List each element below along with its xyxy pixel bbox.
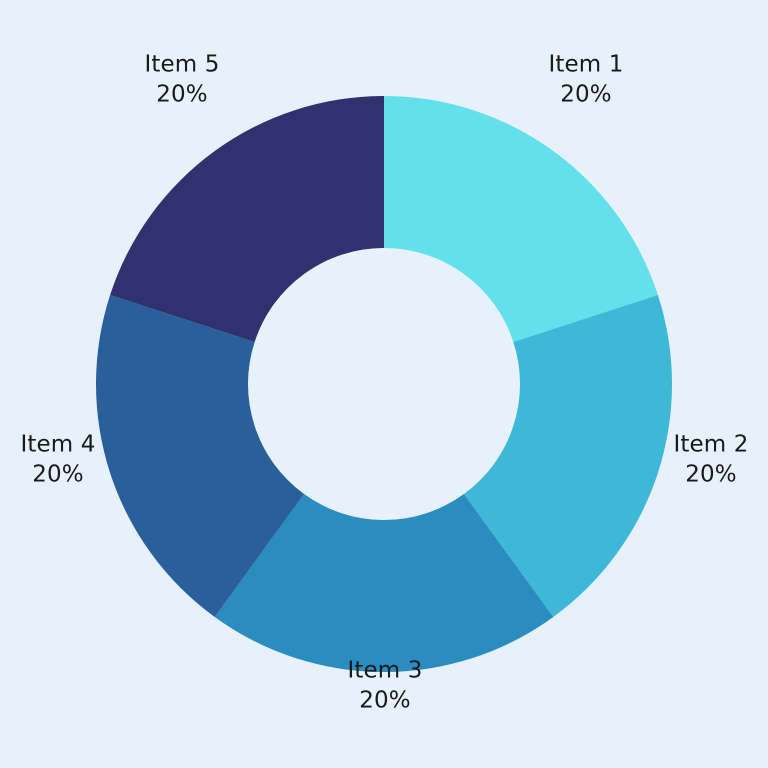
slice-label-4: Item 420% [21,430,96,491]
slice-label-name: Item 2 [674,430,749,460]
slice-label-name: Item 1 [549,50,624,80]
slice-label-5: Item 520% [145,50,220,111]
donut-slice-1[interactable] [384,96,658,342]
slice-label-value: 20% [348,686,423,716]
donut-slice-5[interactable] [110,96,384,342]
slice-label-value: 20% [21,460,96,490]
slice-label-2: Item 220% [674,430,749,491]
slice-label-value: 20% [145,80,220,110]
donut-chart-svg [0,0,768,768]
slice-label-value: 20% [549,80,624,110]
slice-label-value: 20% [674,460,749,490]
donut-chart: Item 120%Item 220%Item 320%Item 420%Item… [0,0,768,768]
slice-label-3: Item 320% [348,656,423,717]
slice-label-name: Item 5 [145,50,220,80]
slice-label-name: Item 3 [348,656,423,686]
slice-label-1: Item 120% [549,50,624,111]
donut-slices [96,96,672,672]
slice-label-name: Item 4 [21,430,96,460]
